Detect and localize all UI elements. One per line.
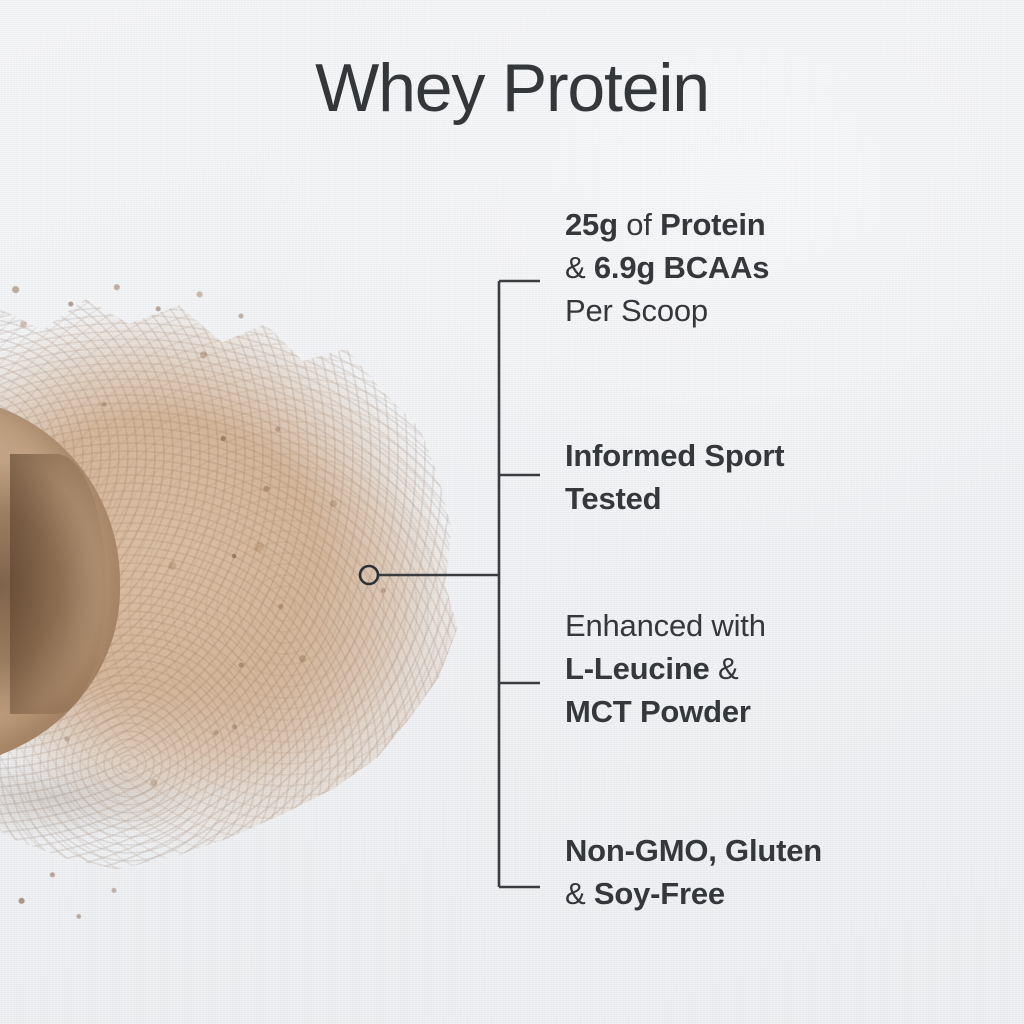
- feature-text-strong: 25g: [565, 207, 618, 242]
- feature-line: Informed Sport: [565, 434, 985, 477]
- feature-text-strong: Protein: [660, 207, 765, 242]
- feature-text: of: [618, 207, 660, 242]
- feature-line: Enhanced with: [565, 604, 985, 647]
- feature-text-strong: Informed Sport: [565, 438, 784, 473]
- feature-text: Enhanced with: [565, 608, 766, 643]
- feature-line: & Soy-Free: [565, 872, 985, 915]
- feature-line: Tested: [565, 477, 985, 520]
- feature-line: & 6.9g BCAAs: [565, 246, 985, 289]
- feature-line: Per Scoop: [565, 289, 985, 332]
- feature-text: &: [565, 250, 594, 285]
- product-infographic: Whey Protein 25g of Protein& 6.9g BCAAsP…: [0, 0, 1024, 1024]
- feature-leucine-mct: Enhanced withL-Leucine &MCT Powder: [565, 604, 985, 733]
- callout-anchor-circle-marker: [360, 566, 378, 584]
- feature-text: &: [718, 651, 738, 686]
- feature-informed-sport: Informed SportTested: [565, 434, 985, 520]
- feature-line: 25g of Protein: [565, 203, 985, 246]
- feature-text: Per Scoop: [565, 293, 708, 328]
- feature-text-strong: Tested: [565, 481, 661, 516]
- feature-line: MCT Powder: [565, 690, 985, 733]
- feature-line: L-Leucine &: [565, 647, 985, 690]
- feature-text: &: [565, 876, 594, 911]
- feature-text-strong: Non-GMO, Gluten: [565, 833, 822, 868]
- feature-text-strong: Soy-Free: [594, 876, 725, 911]
- feature-text-strong: MCT Powder: [565, 694, 751, 729]
- feature-text-strong: 6.9g BCAAs: [594, 250, 769, 285]
- feature-text-strong: L-Leucine: [565, 651, 718, 686]
- feature-line: Non-GMO, Gluten: [565, 829, 985, 872]
- feature-protein-bcaa: 25g of Protein& 6.9g BCAAsPer Scoop: [565, 203, 985, 332]
- feature-non-gmo: Non-GMO, Gluten& Soy-Free: [565, 829, 985, 915]
